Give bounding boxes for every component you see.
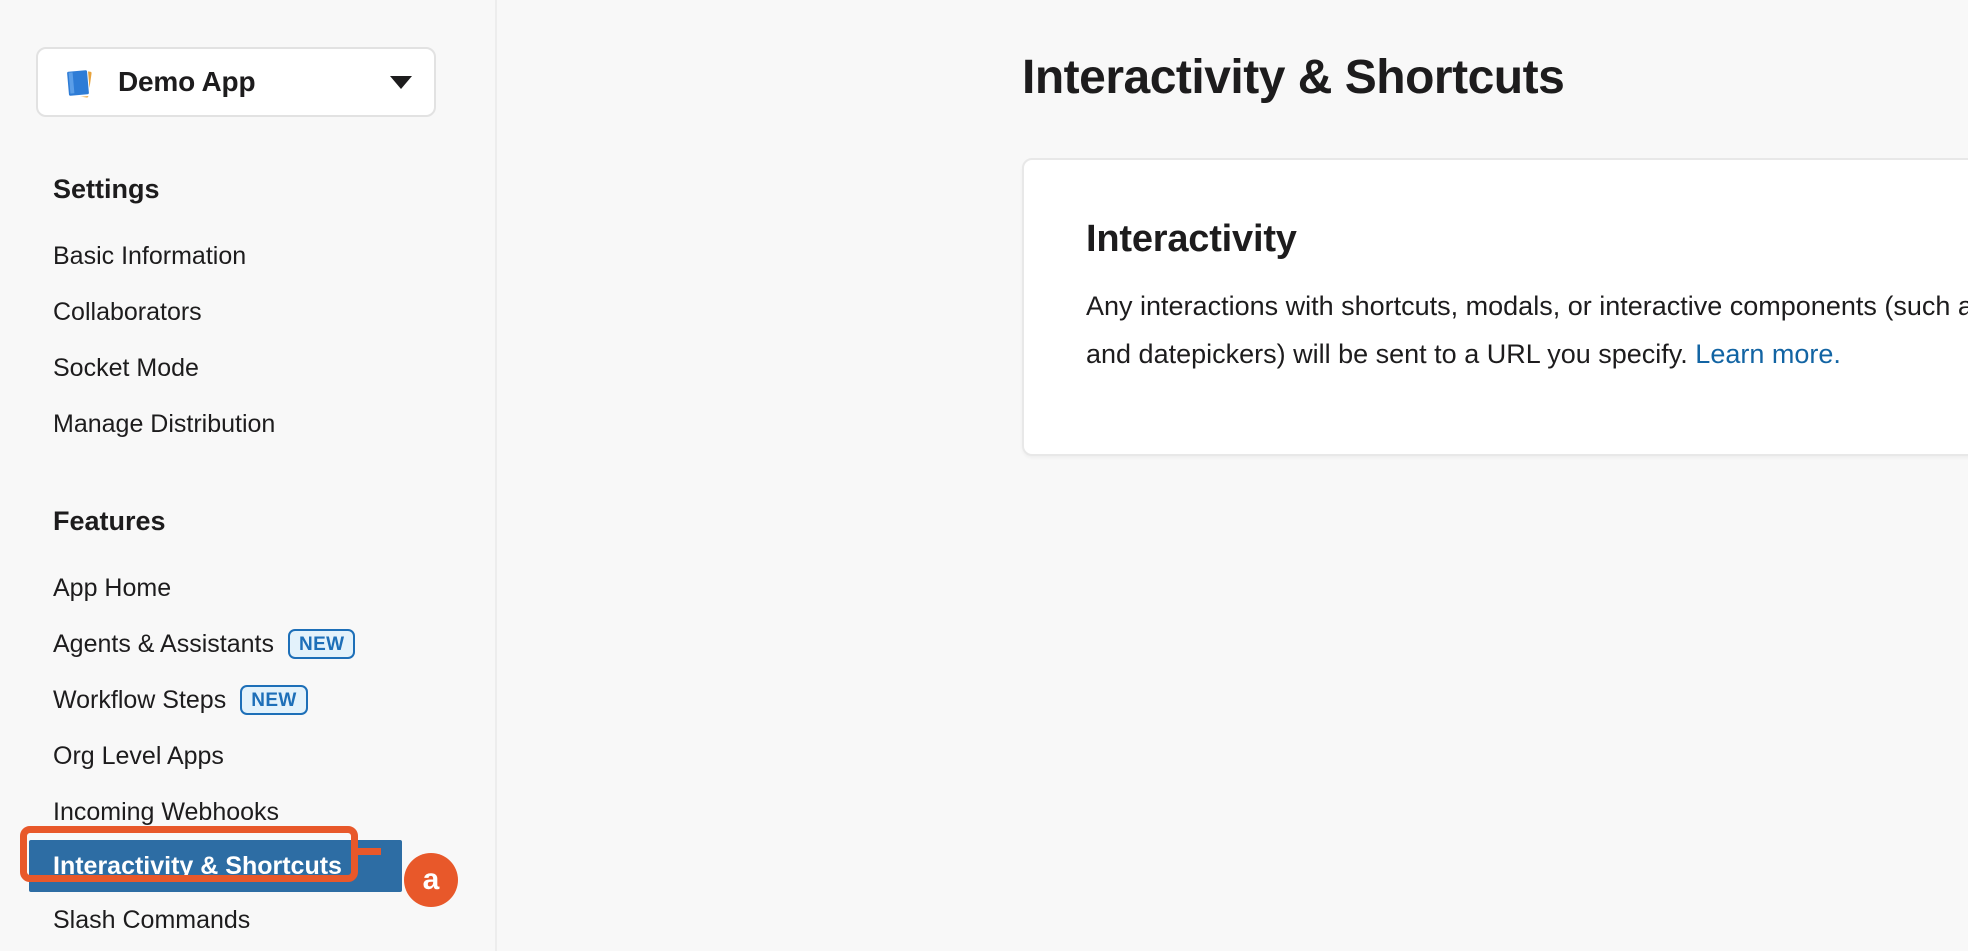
interactivity-card: Interactivity Any interactions with shor… [1022,158,1968,456]
sidebar-item-label: Agents & Assistants [53,630,274,659]
chevron-down-icon [390,76,412,89]
sidebar: Demo App Settings Basic Information Coll… [0,0,497,951]
sidebar-nav: Settings Basic Information Collaborators… [0,150,497,948]
new-badge: NEW [240,685,308,715]
sidebar-item-label: Interactivity & Shortcuts [53,852,342,881]
sidebar-item-socket-mode[interactable]: Socket Mode [0,340,497,396]
sidebar-item-label: App Home [53,574,171,603]
app-name-label: Demo App [118,66,372,98]
sidebar-item-label: Socket Mode [53,354,199,383]
sidebar-item-workflow-steps[interactable]: Workflow Steps NEW [0,672,497,728]
sidebar-item-label: Manage Distribution [53,410,275,439]
main-content: Interactivity & Shortcuts Interactivity … [497,0,1968,951]
sidebar-item-org-level-apps[interactable]: Org Level Apps [0,728,497,784]
sidebar-item-collaborators[interactable]: Collaborators [0,284,497,340]
learn-more-link[interactable]: Learn more. [1695,339,1841,369]
sidebar-item-label: Collaborators [53,298,202,327]
sidebar-item-label: Workflow Steps [53,686,226,715]
sidebar-item-basic-information[interactable]: Basic Information [0,228,497,284]
sidebar-item-agents-assistants[interactable]: Agents & Assistants NEW [0,616,497,672]
app-selector-button[interactable]: Demo App [36,47,436,117]
page-title: Interactivity & Shortcuts [1022,50,1564,105]
sidebar-item-label: Org Level Apps [53,742,224,771]
sidebar-item-interactivity-shortcuts[interactable]: Interactivity & Shortcuts [29,840,402,892]
sidebar-heading-features: Features [0,504,497,538]
sidebar-item-label: Slash Commands [53,906,250,935]
annotation-connector-a [351,848,381,855]
app-page: Demo App Settings Basic Information Coll… [0,0,1968,951]
card-title: Interactivity [1086,216,1968,262]
sidebar-item-label: Basic Information [53,242,246,271]
new-badge: NEW [288,629,356,659]
card-description: Any interactions with shortcuts, modals,… [1086,282,1968,378]
sidebar-item-label: Incoming Webhooks [53,798,279,827]
sidebar-item-manage-distribution[interactable]: Manage Distribution [0,396,497,452]
sidebar-heading-settings: Settings [0,172,497,206]
sidebar-item-incoming-webhooks[interactable]: Incoming Webhooks [0,784,497,840]
notebook-icon [60,62,100,102]
sidebar-item-app-home[interactable]: App Home [0,560,497,616]
annotation-marker-a: a [404,853,458,907]
